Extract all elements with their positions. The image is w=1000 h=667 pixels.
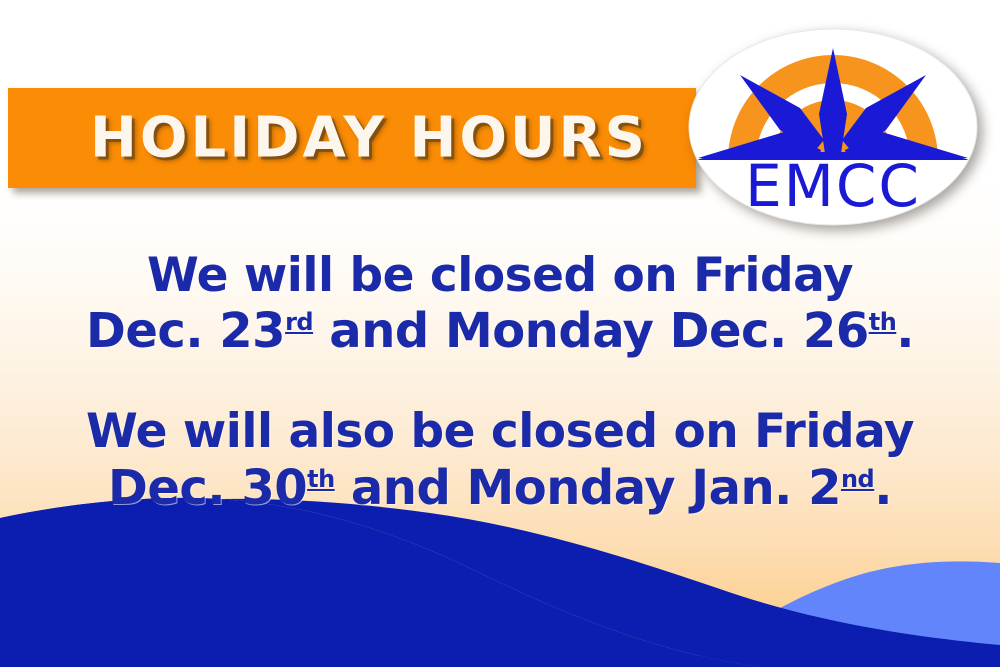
message-body: We will be closed on Friday Dec. 23rd an… [0, 248, 1000, 516]
holiday-hours-banner: HOLIDAY HOURS [8, 88, 696, 188]
ordinal-suffix: th [869, 308, 897, 336]
ordinal-suffix: rd [285, 308, 313, 336]
message-line: Dec. 30th and Monday Jan. 2nd. [0, 460, 1000, 517]
banner-title: HOLIDAY HOURS [8, 106, 696, 171]
message-line: We will also be closed on Friday [0, 404, 1000, 459]
emcc-logo: EMCC [688, 28, 978, 226]
ordinal-suffix: nd [841, 465, 874, 493]
date-text: Dec. 30 [108, 460, 307, 516]
ordinal-suffix: th [307, 465, 335, 493]
period: . [896, 303, 914, 359]
emcc-wordmark: EMCC [745, 152, 921, 220]
emcc-sunburst-icon: EMCC [688, 28, 978, 226]
message-paragraph-1: We will be closed on Friday Dec. 23rd an… [0, 248, 1000, 360]
period: . [874, 460, 892, 516]
message-line: Dec. 23rd and Monday Dec. 26th. [0, 303, 1000, 360]
date-text: and Monday Dec. 26 [313, 303, 869, 359]
message-line: We will be closed on Friday [0, 248, 1000, 303]
date-text: and Monday Jan. 2 [335, 460, 841, 516]
holiday-hours-poster: HOLIDAY HOURS [0, 0, 1000, 667]
message-paragraph-2: We will also be closed on Friday Dec. 30… [0, 404, 1000, 516]
date-text: Dec. 23 [86, 303, 285, 359]
